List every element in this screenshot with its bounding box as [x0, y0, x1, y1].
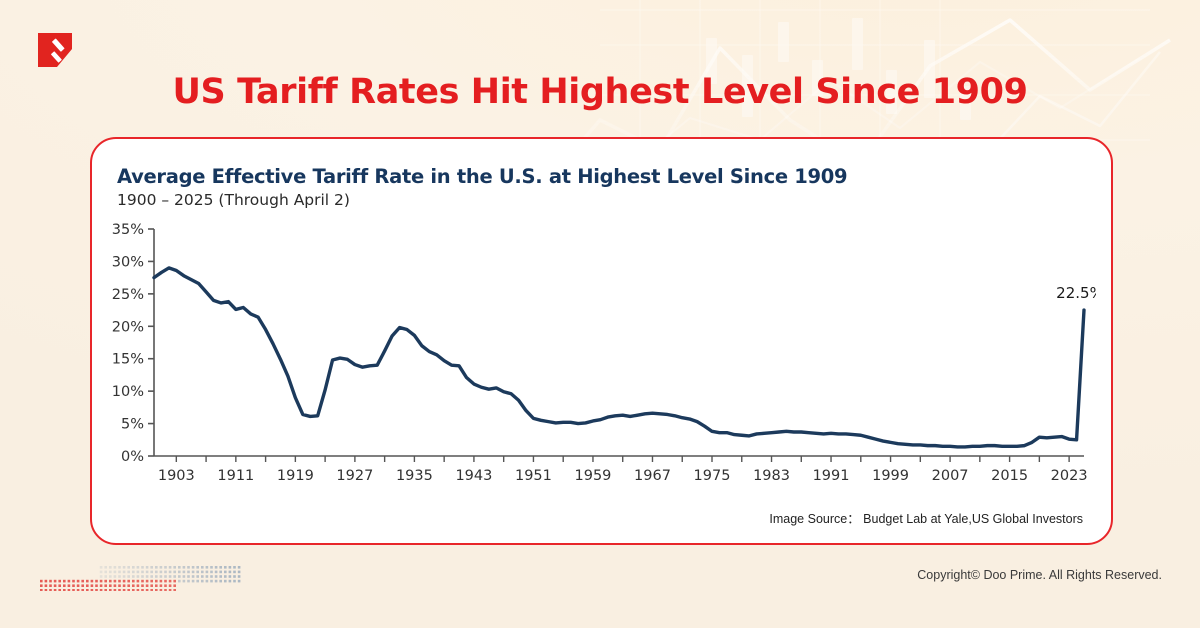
- decoration-dot: [141, 584, 144, 587]
- decoration-dot: [54, 584, 57, 587]
- x-axis-tick-label: 1967: [634, 468, 671, 484]
- decoration-dot: [123, 584, 126, 587]
- decoration-dot: [100, 589, 103, 591]
- decoration-dot: [45, 584, 48, 587]
- decoration-dot: [210, 575, 213, 578]
- decoration-dot: [109, 575, 112, 578]
- decoration-dot: [146, 571, 149, 574]
- decoration-dot: [150, 571, 153, 574]
- decoration-dot: [219, 575, 222, 578]
- decoration-dot: [54, 580, 57, 583]
- x-axis-tick-label: 1983: [753, 468, 790, 484]
- decoration-dot: [118, 575, 121, 578]
- decoration-dot: [49, 584, 52, 587]
- decoration-dot: [224, 575, 227, 578]
- x-axis-minor-ticks: [176, 456, 1069, 462]
- decoration-dot: [114, 589, 117, 591]
- decoration-dot: [95, 589, 98, 591]
- decoration-dot: [192, 566, 195, 569]
- chart-annotations: 22.5%: [1056, 284, 1096, 302]
- decoration-dot: [187, 580, 190, 583]
- decoration-dot: [155, 589, 158, 591]
- decoration-dot: [201, 580, 204, 583]
- y-axis-tick-label: 20%: [112, 319, 144, 335]
- decoration-dot: [183, 571, 186, 574]
- decoration-dot: [118, 580, 121, 583]
- decoration-dot: [196, 571, 199, 574]
- decoration-dot: [86, 580, 89, 583]
- decoration-dot: [164, 589, 167, 591]
- tariff-rate-line-chart: 0%5%10%15%20%25%30%35% 19031911191919271…: [106, 221, 1096, 491]
- decoration-dot: [155, 571, 158, 574]
- decoration-dot: [109, 571, 112, 574]
- y-axis-tick-label: 15%: [112, 352, 144, 368]
- y-axis-tick-label: 0%: [121, 449, 144, 465]
- decoration-dot: [123, 571, 126, 574]
- decoration-dot: [215, 580, 218, 583]
- decoration-dot: [91, 589, 94, 591]
- decoration-dot: [109, 580, 112, 583]
- x-axis-tick-label: 1951: [515, 468, 552, 484]
- decoration-dot: [201, 575, 204, 578]
- decoration-dot: [187, 575, 190, 578]
- decoration-dot: [192, 580, 195, 583]
- decoration-dot: [215, 571, 218, 574]
- decoration-dot: [114, 571, 117, 574]
- decoration-dot: [173, 589, 176, 591]
- decoration-dot: [81, 580, 84, 583]
- decoration-dot: [137, 575, 140, 578]
- x-axis-tick-label: 1943: [455, 468, 492, 484]
- decoration-dot: [104, 575, 107, 578]
- decoration-dot: [169, 566, 172, 569]
- decoration-dot: [77, 580, 80, 583]
- decoration-dot: [173, 580, 176, 583]
- decoration-dot: [164, 566, 167, 569]
- decoration-dot: [81, 589, 84, 591]
- decoration-dot: [183, 566, 186, 569]
- decoration-dot: [146, 566, 149, 569]
- decoration-dot: [49, 580, 52, 583]
- decoration-dot: [233, 571, 236, 574]
- chart-card: Average Effective Tariff Rate in the U.S…: [90, 137, 1113, 545]
- decoration-dot: [137, 571, 140, 574]
- decoration-dot: [100, 566, 103, 569]
- decoration-dot: [196, 580, 199, 583]
- decoration-dot: [137, 566, 140, 569]
- decoration-dot: [150, 589, 153, 591]
- decoration-dot: [215, 575, 218, 578]
- decoration-dot: [104, 566, 107, 569]
- decoration-dot: [132, 580, 135, 583]
- doo-prime-logo-icon: [38, 33, 72, 67]
- decoration-dot: [127, 589, 130, 591]
- decoration-dot: [229, 575, 232, 578]
- x-axis-tick-label: 1903: [158, 468, 195, 484]
- x-axis-tick-label: 1919: [277, 468, 314, 484]
- decoration-dot: [132, 575, 135, 578]
- decoration-dot: [104, 571, 107, 574]
- decoration-dot: [155, 580, 158, 583]
- decoration-dot: [104, 589, 107, 591]
- decoration-dot: [210, 566, 213, 569]
- decoration-dot: [81, 584, 84, 587]
- decoration-dot: [219, 571, 222, 574]
- decoration-dot: [100, 575, 103, 578]
- decoration-dot: [118, 571, 121, 574]
- decoration-dot: [178, 580, 181, 583]
- decoration-dot: [95, 580, 98, 583]
- x-axis-tick-label: 1959: [575, 468, 612, 484]
- y-axis-ticks: [148, 229, 154, 456]
- decoration-dot: [132, 571, 135, 574]
- decoration-dot: [58, 580, 61, 583]
- decoration-dot: [91, 584, 94, 587]
- decoration-dot: [224, 580, 227, 583]
- decoration-dot: [233, 580, 236, 583]
- decoration-dot: [141, 575, 144, 578]
- decoration-dot: [160, 566, 163, 569]
- decoration-dot: [169, 589, 172, 591]
- decoration-dot: [63, 580, 66, 583]
- decoration-dot: [63, 589, 66, 591]
- chart-plot-area: 0%5%10%15%20%25%30%35% 19031911191919271…: [106, 221, 1096, 491]
- decoration-dot: [40, 584, 43, 587]
- decoration-dot: [63, 584, 66, 587]
- decoration-dot: [86, 584, 89, 587]
- decoration-dot: [160, 584, 163, 587]
- decoration-dot: [123, 566, 126, 569]
- decoration-dot: [146, 575, 149, 578]
- decoration-dot: [40, 589, 43, 591]
- decoration-dot: [169, 580, 172, 583]
- x-axis-tick-labels: 1903191119191927193519431951195919671975…: [158, 468, 1088, 484]
- x-axis-tick-label: 2007: [932, 468, 969, 484]
- x-axis-tick-label: 2023: [1051, 468, 1088, 484]
- decoration-dot: [58, 589, 61, 591]
- decoration-dot: [127, 571, 130, 574]
- page-headline: US Tariff Rates Hit Highest Level Since …: [0, 72, 1200, 112]
- decoration-dot: [127, 580, 130, 583]
- decoration-dot: [160, 589, 163, 591]
- decoration-dot: [132, 566, 135, 569]
- decoration-dot: [141, 566, 144, 569]
- y-axis-tick-labels: 0%5%10%15%20%25%30%35%: [112, 222, 144, 465]
- decoration-dot: [91, 580, 94, 583]
- chart-title: Average Effective Tariff Rate in the U.S…: [117, 165, 847, 188]
- decoration-dot: [233, 575, 236, 578]
- decoration-dot: [169, 575, 172, 578]
- decoration-dot: [104, 584, 107, 587]
- decoration-dot: [164, 571, 167, 574]
- decoration-dot: [141, 589, 144, 591]
- x-axis-tick-label: 1935: [396, 468, 433, 484]
- x-axis-tick-label: 1911: [217, 468, 254, 484]
- decoration-dot: [118, 584, 121, 587]
- decoration-dot: [68, 580, 71, 583]
- decoration-dot: [169, 584, 172, 587]
- decoration-dot: [118, 589, 121, 591]
- decoration-dot: [187, 566, 190, 569]
- decoration-dot: [206, 566, 209, 569]
- chart-value-label: 22.5%: [1056, 284, 1096, 302]
- decoration-dot: [201, 566, 204, 569]
- decoration-dot: [150, 575, 153, 578]
- decoration-dot: [173, 566, 176, 569]
- decoration-dot: [196, 566, 199, 569]
- decoration-dot: [40, 580, 43, 583]
- decoration-dot: [127, 575, 130, 578]
- x-axis-tick-label: 1991: [813, 468, 850, 484]
- decoration-dot: [238, 566, 241, 569]
- decoration-dot: [45, 580, 48, 583]
- decoration-dot: [137, 589, 140, 591]
- decoration-dot: [183, 575, 186, 578]
- decoration-dot: [109, 584, 112, 587]
- decoration-dot: [132, 589, 135, 591]
- decoration-dot: [155, 566, 158, 569]
- decoration-dot: [45, 589, 48, 591]
- decoration-dot: [146, 580, 149, 583]
- decoration-dot: [160, 575, 163, 578]
- decoration-dot: [72, 580, 75, 583]
- decoration-dot: [160, 580, 163, 583]
- decoration-dot: [219, 566, 222, 569]
- tariff-rate-series-line: [154, 268, 1084, 447]
- y-axis-tick-label: 35%: [112, 222, 144, 238]
- decoration-dot: [150, 566, 153, 569]
- decoration-dot: [183, 580, 186, 583]
- decoration-dot: [137, 580, 140, 583]
- decoration-dot: [100, 571, 103, 574]
- decoration-dot: [141, 580, 144, 583]
- x-axis-tick-label: 2015: [991, 468, 1028, 484]
- decoration-dot: [164, 584, 167, 587]
- y-axis-tick-label: 5%: [121, 417, 144, 433]
- x-axis-tick-label: 1975: [694, 468, 731, 484]
- decoration-dot: [54, 589, 57, 591]
- decoration-dot: [100, 584, 103, 587]
- decoration-dot: [192, 571, 195, 574]
- decoration-dot: [77, 584, 80, 587]
- decoration-dot: [192, 575, 195, 578]
- decoration-dot: [146, 584, 149, 587]
- decoration-dot: [178, 575, 181, 578]
- decoration-dot: [229, 580, 232, 583]
- decoration-dot: [206, 580, 209, 583]
- decoration-dot: [109, 589, 112, 591]
- decoration-dot: [155, 575, 158, 578]
- decoration-dot: [123, 580, 126, 583]
- decoration-dot: [86, 589, 89, 591]
- decoration-dot: [141, 571, 144, 574]
- decoration-dot: [72, 589, 75, 591]
- copyright-text: Copyright© Doo Prime. All Rights Reserve…: [917, 568, 1162, 582]
- halftone-dots-decoration: [38, 565, 253, 591]
- decoration-dot: [150, 584, 153, 587]
- decoration-dot: [109, 566, 112, 569]
- decoration-dot: [173, 571, 176, 574]
- decoration-dot: [173, 584, 176, 587]
- x-axis-tick-label: 1927: [336, 468, 373, 484]
- decoration-dot: [169, 571, 172, 574]
- decoration-dot: [215, 566, 218, 569]
- decoration-dot: [137, 584, 140, 587]
- decoration-dot: [58, 584, 61, 587]
- decoration-dot: [224, 571, 227, 574]
- y-axis-tick-label: 30%: [112, 254, 144, 270]
- decoration-dot: [132, 584, 135, 587]
- decoration-dot: [127, 584, 130, 587]
- decoration-dot: [238, 575, 241, 578]
- decoration-dot: [114, 580, 117, 583]
- decoration-dot: [104, 580, 107, 583]
- decoration-dot: [196, 575, 199, 578]
- decoration-dot: [100, 580, 103, 583]
- chart-source-note: Image Source： Budget Lab at Yale,US Glob…: [769, 508, 1083, 527]
- y-axis-tick-label: 25%: [112, 287, 144, 303]
- decoration-dot: [238, 580, 241, 583]
- decoration-dot: [178, 566, 181, 569]
- chart-subtitle: 1900 – 2025 (Through April 2): [117, 191, 350, 209]
- decoration-dot: [77, 589, 80, 591]
- decoration-dot: [233, 566, 236, 569]
- decoration-dot: [238, 571, 241, 574]
- decoration-dot: [68, 584, 71, 587]
- decoration-dot: [187, 571, 190, 574]
- decoration-dot: [114, 566, 117, 569]
- decoration-dot: [210, 571, 213, 574]
- decoration-dot: [210, 580, 213, 583]
- decoration-dot: [72, 584, 75, 587]
- decoration-dot: [224, 566, 227, 569]
- decoration-dot: [219, 580, 222, 583]
- decoration-dot: [150, 580, 153, 583]
- decoration-dot: [206, 571, 209, 574]
- decoration-dot: [123, 575, 126, 578]
- decoration-dot: [178, 571, 181, 574]
- decoration-dot: [206, 575, 209, 578]
- x-axis-tick-label: 1999: [872, 468, 909, 484]
- decoration-dot: [229, 571, 232, 574]
- decoration-dot: [173, 575, 176, 578]
- decoration-dot: [95, 584, 98, 587]
- decoration-dot: [127, 566, 130, 569]
- decoration-dot: [164, 575, 167, 578]
- decoration-dot: [164, 580, 167, 583]
- decoration-dot: [114, 575, 117, 578]
- decoration-dot: [49, 589, 52, 591]
- decoration-dot: [123, 589, 126, 591]
- decoration-dot: [118, 566, 121, 569]
- decoration-dot: [146, 589, 149, 591]
- decoration-dot: [155, 584, 158, 587]
- decoration-dot: [114, 584, 117, 587]
- decoration-dot: [229, 566, 232, 569]
- decoration-dot: [68, 589, 71, 591]
- y-axis-tick-label: 10%: [112, 384, 144, 400]
- decoration-dot: [160, 571, 163, 574]
- decoration-dot: [201, 571, 204, 574]
